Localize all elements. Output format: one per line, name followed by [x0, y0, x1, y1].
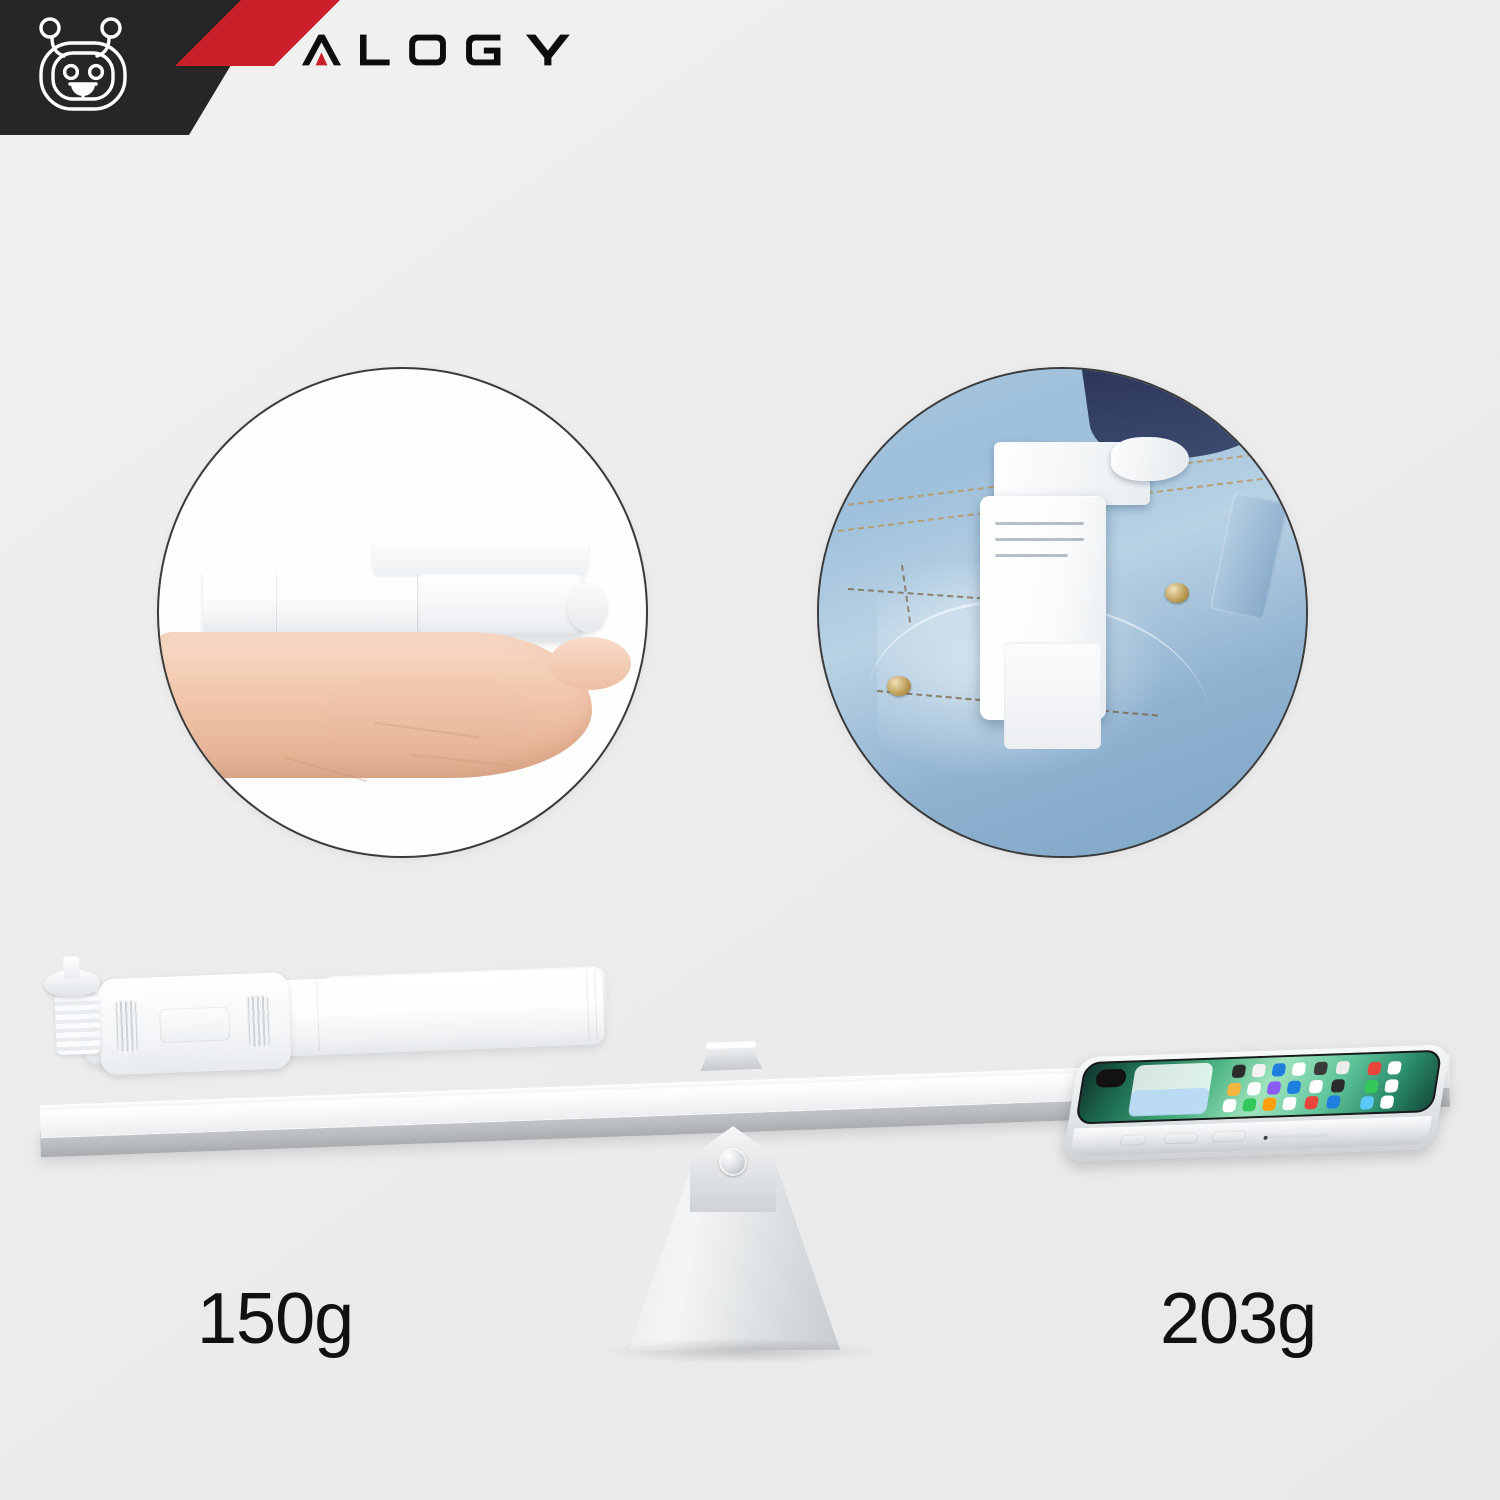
app-icon [1384, 1079, 1399, 1093]
tripod-vent-slot [995, 554, 1068, 557]
tripod-vent-slot [995, 522, 1084, 525]
brand-header [0, 0, 1500, 150]
app-icon [1286, 1081, 1301, 1095]
tripod-phone-clamp [98, 972, 292, 1075]
phone-notch [1095, 1069, 1128, 1088]
tripod-ball-head-neck [54, 991, 100, 1055]
jeans-pocket-photo [819, 369, 1306, 856]
feature-circle-pocket-size [817, 367, 1308, 858]
app-icon [1380, 1095, 1395, 1109]
app-icon [1271, 1063, 1286, 1077]
pocket-tripod-screw-knob [1111, 437, 1189, 481]
app-icon [1326, 1095, 1341, 1109]
app-icon [1242, 1098, 1257, 1112]
folded-tripod-end-knob [568, 583, 607, 632]
app-icon [1313, 1062, 1328, 1076]
hand-holding-tripod-photo [159, 369, 646, 856]
app-icon [1304, 1096, 1319, 1110]
phone-mute-switch [1119, 1134, 1147, 1146]
selfie-stick-tripod-on-beam [29, 944, 613, 1086]
clamp-grip-ridges [115, 1000, 139, 1053]
folded-tripod-barrel [417, 574, 583, 637]
phone-microphone [1263, 1136, 1268, 1140]
app-icon [1291, 1062, 1306, 1076]
clamp-center-plate [159, 1006, 230, 1043]
palm-highlight [325, 671, 530, 754]
home-screen-widget [1128, 1088, 1210, 1117]
fulcrum-pivot-pin [719, 1148, 747, 1176]
product-marketing-banner: 150g 203g [0, 0, 1500, 1500]
app-icon [1282, 1097, 1297, 1111]
pocket-rivet [887, 676, 911, 696]
app-icon [1262, 1097, 1277, 1111]
phone-volume-down-button [1211, 1131, 1247, 1143]
clamp-grip-ridges [247, 995, 271, 1048]
app-icon [1360, 1096, 1375, 1110]
pocket-tripod-pad [1004, 642, 1101, 749]
belt-loop [1209, 491, 1289, 620]
phone-screen [1075, 1050, 1443, 1125]
feature-circle-palm-size [157, 367, 648, 858]
weight-label-left: 150g [197, 1283, 353, 1355]
app-icon [1335, 1061, 1350, 1075]
app-icon [1266, 1081, 1281, 1095]
app-icon [1330, 1079, 1345, 1093]
tripod-mount-tab [63, 956, 80, 979]
fulcrum-ground-shadow [600, 1338, 880, 1364]
smartphone-on-beam [1062, 1044, 1450, 1162]
weight-label-right: 203g [1160, 1283, 1316, 1355]
phone-volume-up-button [1163, 1132, 1199, 1144]
fingertip [549, 637, 632, 691]
app-icon [1246, 1082, 1261, 1096]
robot-mascot-icon [28, 12, 138, 122]
app-icon [1251, 1064, 1266, 1078]
brand-wordmark [296, 14, 616, 86]
app-icon [1308, 1080, 1323, 1094]
app-icon [1387, 1061, 1402, 1075]
app-icon [1222, 1099, 1237, 1113]
app-icon [1367, 1062, 1382, 1076]
tripod-vent-slot [995, 538, 1084, 541]
app-icon [1226, 1083, 1241, 1097]
app-icon [1231, 1065, 1246, 1079]
app-icon [1364, 1080, 1379, 1094]
pocket-rivet [1165, 583, 1189, 603]
folded-tripod-top-arm [373, 539, 587, 573]
phone-speaker-grille [1267, 1131, 1330, 1139]
